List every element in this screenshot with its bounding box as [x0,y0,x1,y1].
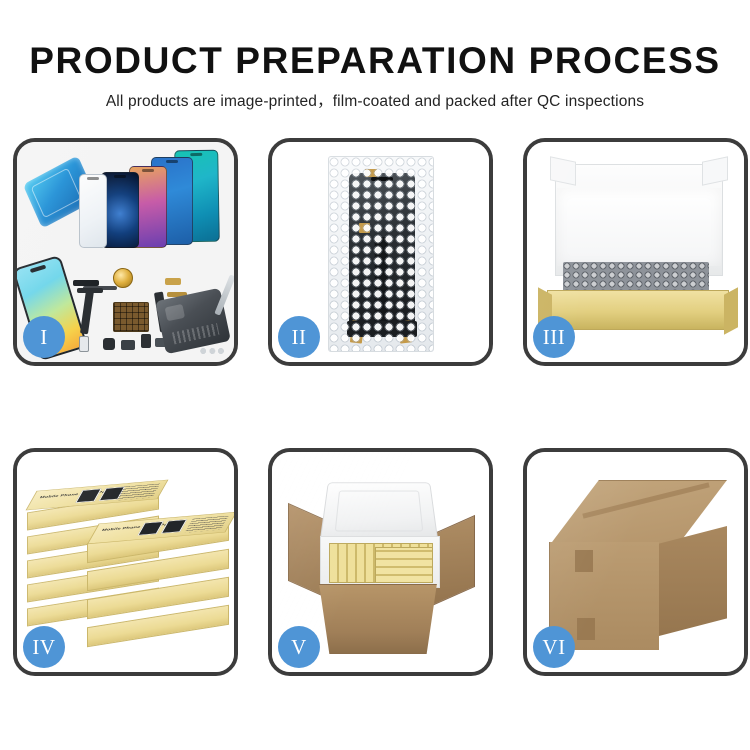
notch-icon [190,153,202,156]
step-badge-5: V [278,626,320,668]
wrapped-screen-assembly [349,173,415,337]
page-title: PRODUCT PREPARATION PROCESS [0,38,750,84]
tape-piece [350,320,364,343]
foam-sheet [557,188,721,266]
page-subtitle: All products are image-printed，film-coat… [0,91,750,113]
packed-inner-boxes [375,547,433,583]
glass-screen-protector [79,174,107,248]
step-panel-6: VI [523,448,748,676]
notch-icon [87,177,99,180]
bubble-wrap-bag [328,156,434,352]
carton-front-panel [314,584,442,654]
tape-piece [365,169,377,177]
step-badge-3: III [533,316,575,358]
notch-icon [114,175,126,178]
box-label-artwork [137,519,191,536]
step-panel-1: I [13,138,238,366]
sim-tray-part [79,336,89,352]
foam-cooler-lid [320,482,439,542]
step-panel-4: Mobile Phone Spare Parts Mobile Phone Sp… [13,448,238,676]
flex-cable-part [375,237,388,325]
notch-icon [166,160,178,163]
kraft-box-base [547,290,729,330]
tape-patch [575,550,593,572]
step-badge-1: I [23,316,65,358]
connector-part [165,278,181,285]
flex-cable-part [80,290,94,335]
notch-icon [30,265,46,274]
step-panel-3: III [523,138,748,366]
foam-cooler-body [320,536,440,588]
step-badge-4: IV [23,626,65,668]
notch-icon [142,169,154,172]
process-step-grid: I II [13,138,737,738]
speaker-part [73,280,99,286]
carton-side-face [659,526,727,636]
tape-piece [398,320,412,343]
tape-piece [359,223,370,233]
box-label-spec-lines [116,484,160,501]
product-preparation-infographic: PRODUCT PREPARATION PROCESS All products… [0,0,750,750]
step-panel-2: II [268,138,493,366]
tape-patch [577,618,595,640]
screws-group [198,346,224,356]
header: PRODUCT PREPARATION PROCESS All products… [0,38,750,113]
vibration-motor-part [113,268,133,288]
chip-array-part [113,302,149,332]
button-part [141,334,151,348]
ic-chip-part [121,340,135,350]
connector-bar [347,321,417,337]
step-badge-2: II [278,316,320,358]
box-label-spec-lines [185,516,229,533]
phone-thumbnail [161,519,187,533]
step-panel-5: V [268,448,493,676]
step-badge-6: VI [533,626,575,668]
camera-module-part [103,338,115,350]
